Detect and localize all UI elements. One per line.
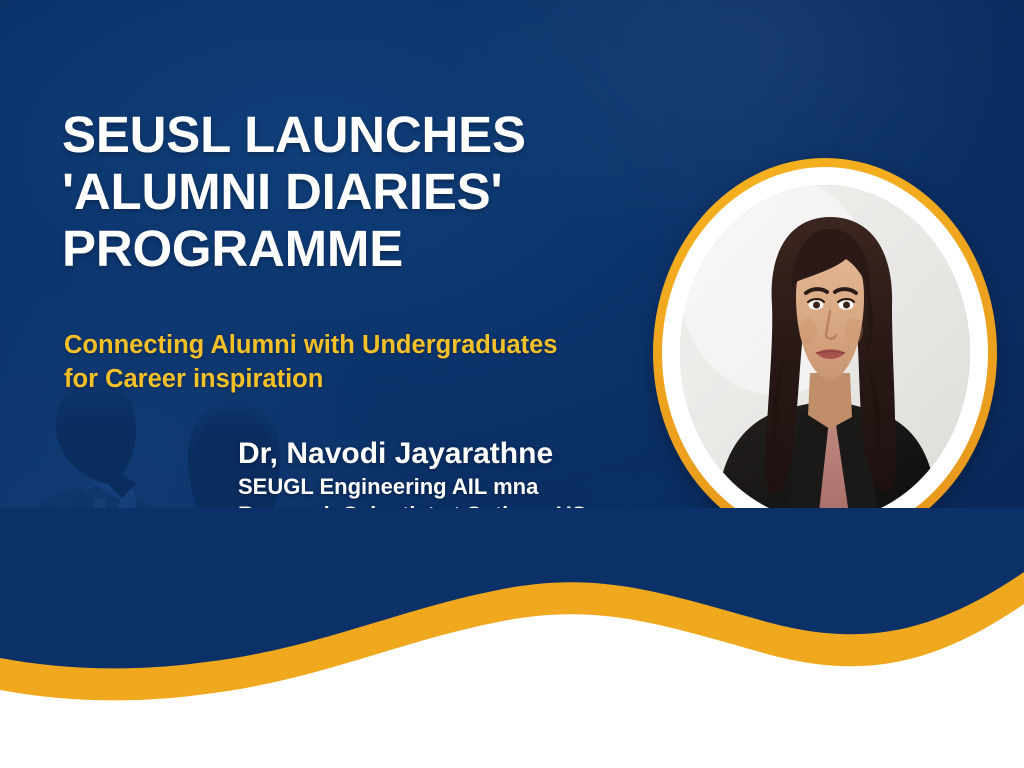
speaker-portrait-frame xyxy=(653,158,997,548)
poster-subheadline: Connecting Alumni with Undergraduates fo… xyxy=(64,329,664,396)
headline-line-3: PROGRAMME xyxy=(62,220,672,277)
bottom-wave-decoration xyxy=(0,508,1024,768)
alumni-diaries-poster: SEUSL LAUNCHES 'ALUMNI DIARIES' PROGRAMM… xyxy=(0,0,1024,768)
speaker-portrait-photo xyxy=(680,185,970,521)
poster-headline: SEUSL LAUNCHES 'ALUMNI DIARIES' PROGRAMM… xyxy=(62,106,672,277)
speaker-name: Dr, Navodi Jayarathne xyxy=(238,436,658,473)
speaker-affiliation: SEUGL Engineering AIL mna xyxy=(238,473,658,502)
headline-line-2: 'ALUMNI DIARIES' xyxy=(62,163,672,220)
headline-line-1: SEUSL LAUNCHES xyxy=(62,106,672,163)
subheadline-line-2: for Career inspiration xyxy=(64,363,664,397)
subheadline-line-1: Connecting Alumni with Undergraduates xyxy=(64,329,664,363)
